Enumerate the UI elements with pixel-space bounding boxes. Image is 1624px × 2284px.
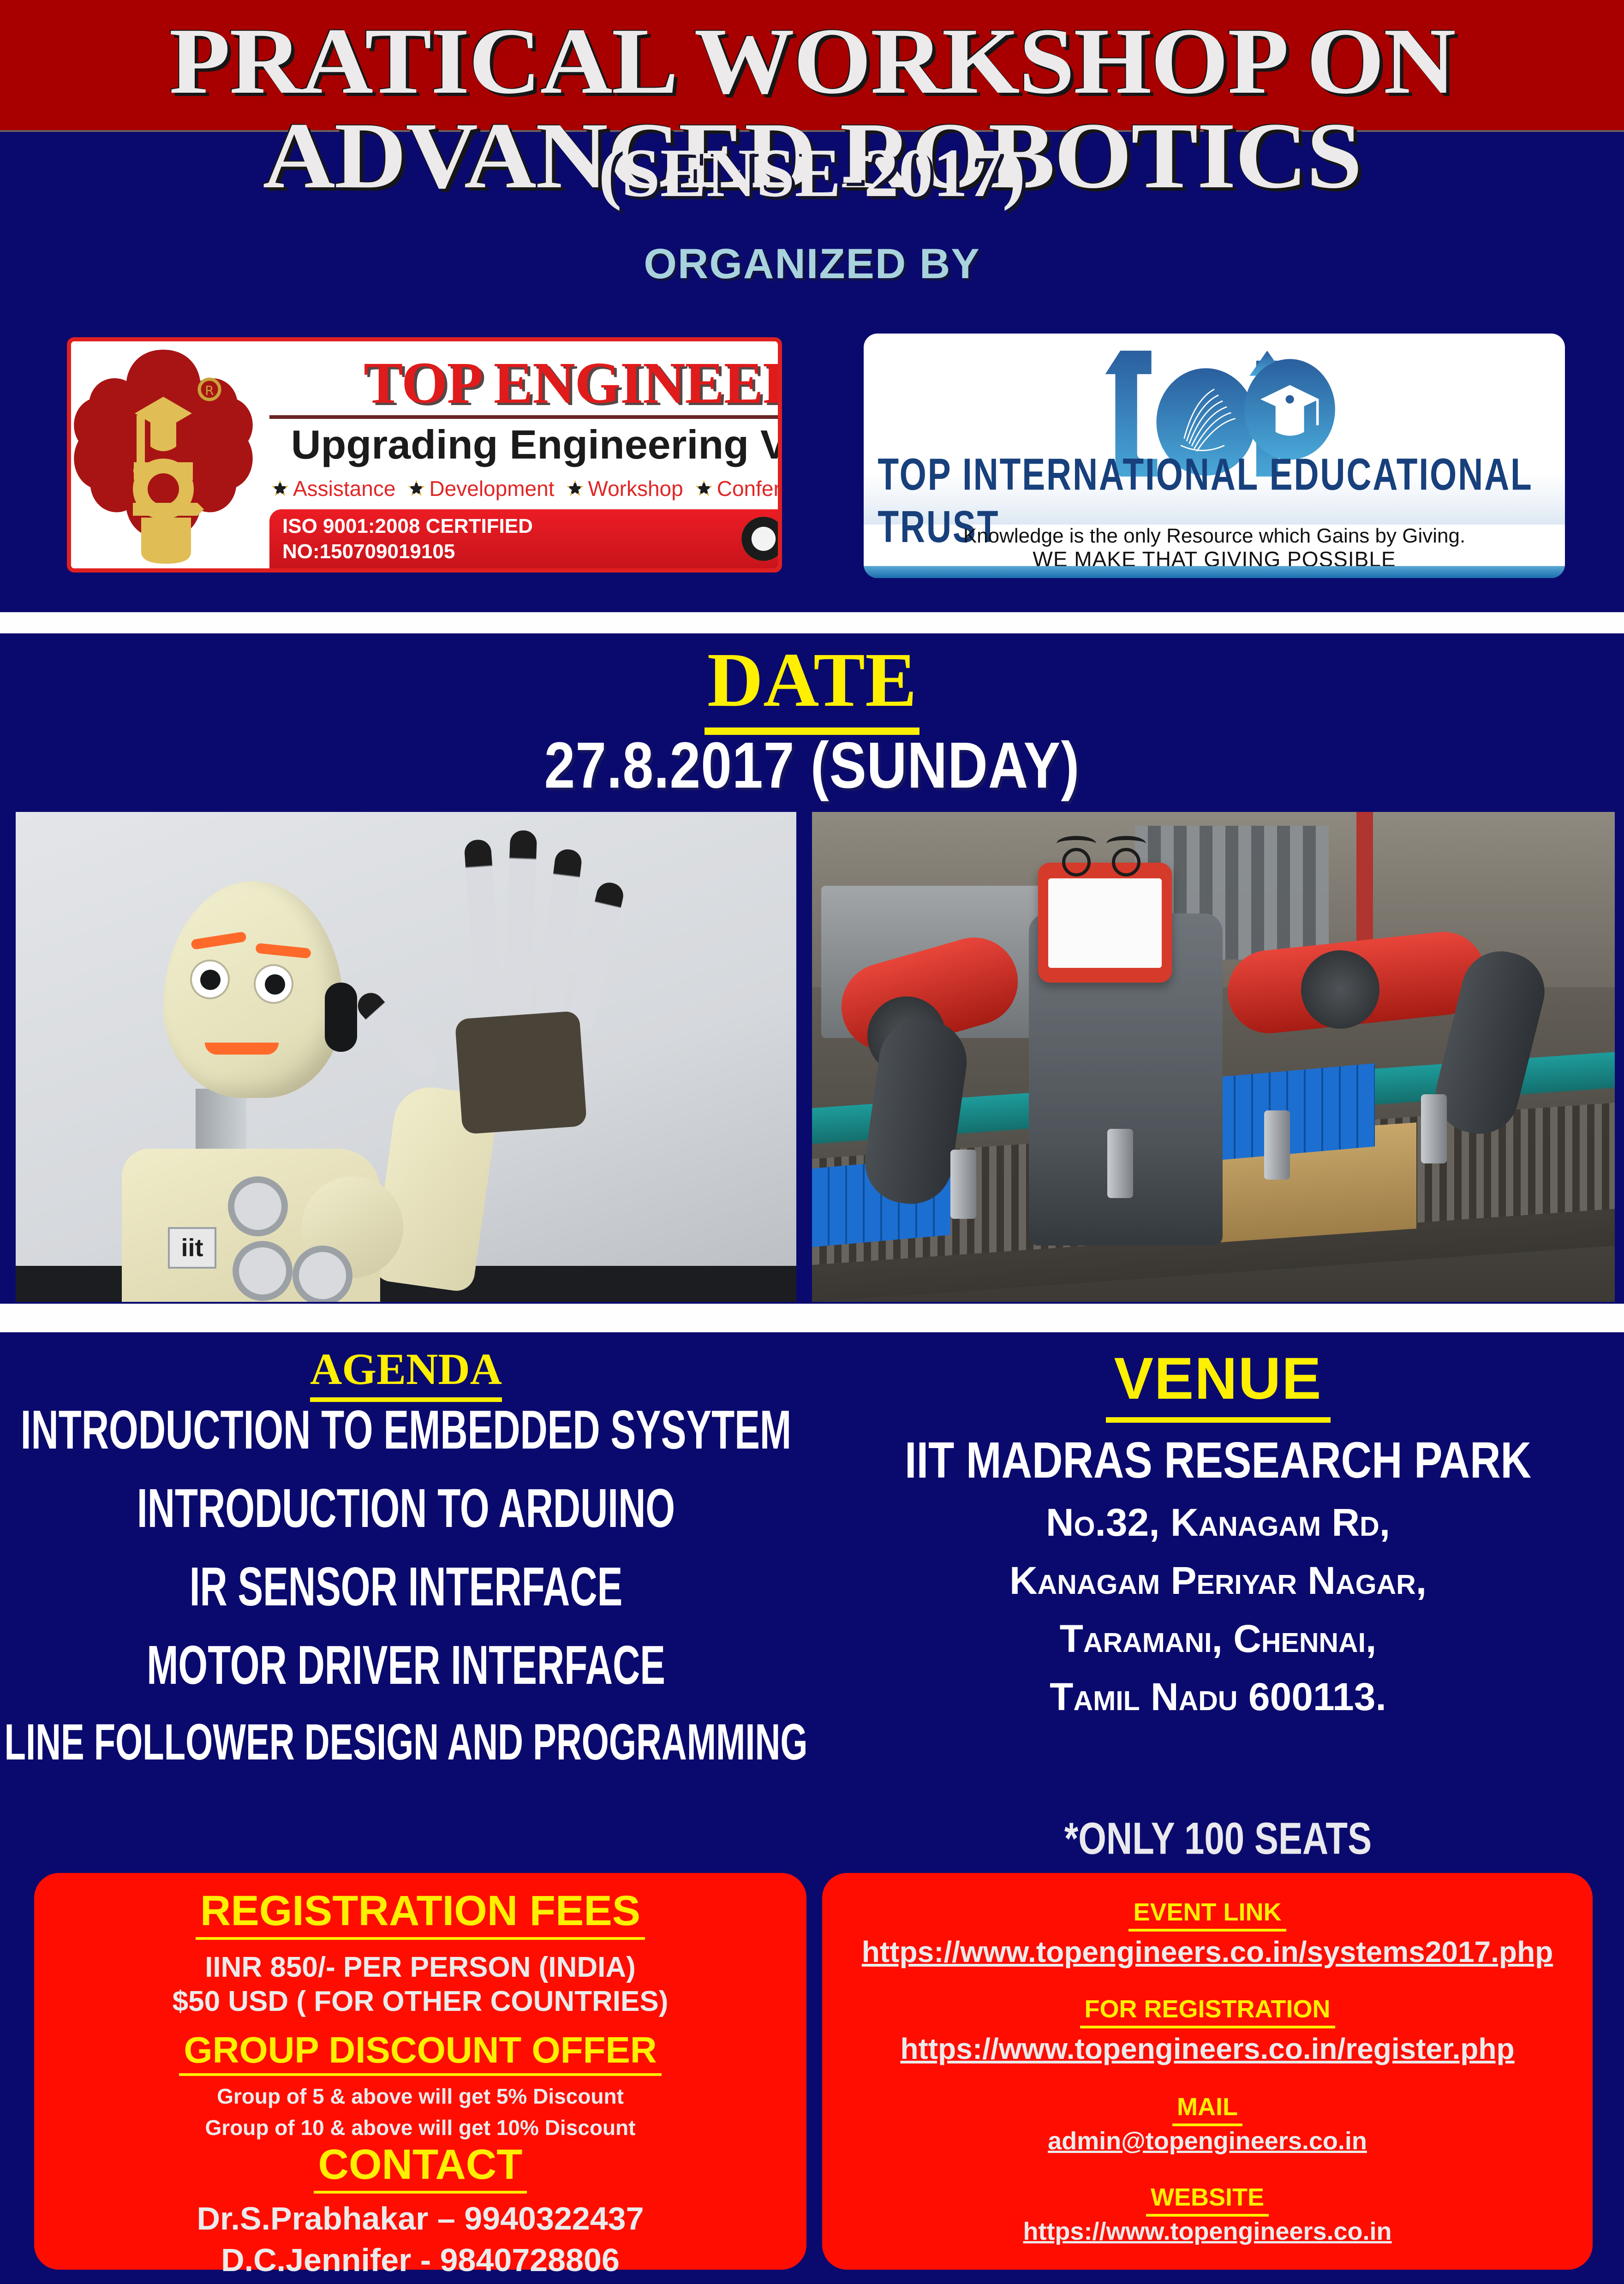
- robot-mouth: [205, 1043, 279, 1055]
- venue-name: IIT MADRAS RESEARCH PARK: [812, 1435, 1624, 1486]
- robot-disc: [228, 1176, 288, 1236]
- divider-band-bottom: [0, 1304, 1624, 1332]
- industrial-robot-photo: [812, 812, 1615, 1302]
- top-trust-logo-card: TOP INTERNATIONAL EDUCATIONAL TRUST Know…: [864, 334, 1565, 578]
- date-value: 27.8.2017 (SUNDAY): [0, 728, 1624, 803]
- svg-text:R: R: [205, 383, 214, 398]
- agenda-list: INTRODUCTION TO EMBEDDED SYSYTEM INTRODU…: [0, 1412, 812, 1801]
- venue-address-line: Tamil Nadu 600113.: [812, 1677, 1624, 1716]
- star-icon: [566, 480, 584, 497]
- group-discount-line-2: Group of 10 & above will get 10% Discoun…: [34, 2117, 806, 2140]
- registration-link-title: FOR REGISTRATION: [822, 1997, 1593, 2022]
- mail-title: MAIL: [822, 2094, 1593, 2119]
- service-item: Assistance: [271, 476, 395, 501]
- robot-pupil: [200, 970, 221, 990]
- contact-person-1: Dr.S.Prabhakar – 9940322437: [34, 2201, 806, 2236]
- top-engineers-emblem-icon: R: [71, 341, 256, 568]
- cobot-screen-surface: [1048, 878, 1162, 968]
- venue-address: IIT MADRAS RESEARCH PARK No.32, Kanagam …: [812, 1439, 1624, 1735]
- event-poster: PRATICAL WORKSHOP ON ADVANCED ROBOTICS (…: [0, 0, 1624, 2284]
- venue-address-line: Taramani, Chennai,: [812, 1619, 1624, 1658]
- venue-address-line: No.32, Kanagam Rd,: [812, 1503, 1624, 1542]
- robot-disc: [233, 1241, 293, 1301]
- registration-link[interactable]: https://www.topengineers.co.in/register.…: [822, 2033, 1593, 2065]
- robot-disc: [293, 1246, 352, 1302]
- top-engineers-tagline: Upgrading Engineering Version: [249, 423, 782, 466]
- cobot-eye: [1062, 848, 1091, 877]
- contact-person-2: D.C.Jennifer - 9840728806: [34, 2243, 806, 2278]
- top-trust-wave-accent: [864, 566, 1565, 578]
- certification-badges: [735, 517, 782, 561]
- agenda-title: AGENDA: [0, 1347, 812, 1391]
- top-engineers-name: TOP ENGINEERS: [256, 353, 782, 412]
- agenda-item: LINE FOLLOWER DESIGN AND PROGRAMMING: [0, 1717, 812, 1768]
- machined-part: [1421, 1094, 1447, 1163]
- agenda-item: IR SENSOR INTERFACE: [0, 1560, 812, 1615]
- top-trust-tagline-1: Knowledge is the only Resource which Gai…: [864, 525, 1565, 548]
- star-icon: [695, 480, 713, 497]
- organized-by-label: ORGANIZED BY: [0, 240, 1624, 288]
- machined-part: [1107, 1129, 1133, 1198]
- group-discount-line-1: Group of 5 & above will get 5% Discount: [34, 2085, 806, 2108]
- iso-certification-bar: ISO 9001:2008 CERTIFIED NO:150709019105: [269, 509, 782, 568]
- contact-title: CONTACT: [34, 2143, 806, 2186]
- website-link[interactable]: https://www.topengineers.co.in: [822, 2218, 1593, 2245]
- event-link[interactable]: https://www.topengineers.co.in/systems20…: [822, 1936, 1593, 1968]
- registration-fees-box: REGISTRATION FEES IINR 850/- PER PERSON …: [34, 1873, 806, 2270]
- humanoid-robot-photo: iit: [16, 812, 796, 1302]
- registration-fees-title: REGISTRATION FEES: [34, 1890, 806, 1932]
- seats-note: *ONLY 100 SEATS: [812, 1813, 1624, 1865]
- neutral-veritas-badge-icon: [741, 517, 782, 561]
- photo-strip: iit: [0, 812, 1624, 1302]
- links-box: EVENT LINK https://www.topengineers.co.i…: [822, 1873, 1593, 2270]
- service-item: Development: [407, 476, 554, 501]
- star-icon: [271, 480, 289, 497]
- fee-india: IINR 850/- PER PERSON (INDIA): [34, 1952, 806, 1983]
- services-row-1: Assistance Development Workshop Conferen…: [271, 476, 782, 501]
- top-engineers-text-block: TOP ENGINEERS Upgrading Engineering Vers…: [256, 341, 782, 568]
- logo-row: R TOP ENGINEERS Upgrading Engineering Ve…: [0, 330, 1624, 588]
- cobot-eye: [1112, 848, 1140, 877]
- robot-pupil: [265, 974, 285, 995]
- group-discount-title: GROUP DISCOUNT OFFER: [34, 2032, 806, 2069]
- iso-certification-text: ISO 9001:2008 CERTIFIED NO:150709019105: [282, 513, 533, 564]
- agenda-item: MOTOR DRIVER INTERFACE: [0, 1639, 812, 1694]
- iit-badge: iit: [168, 1227, 216, 1269]
- fee-other-countries: $50 USD ( FOR OTHER COUNTRIES): [34, 1986, 806, 2017]
- top-engineers-logo-card: R TOP ENGINEERS Upgrading Engineering Ve…: [67, 337, 782, 572]
- website-title: WEBSITE: [822, 2185, 1593, 2210]
- header-band: PRATICAL WORKSHOP ON ADVANCED ROBOTICS: [0, 0, 1624, 132]
- parts-tray: [1218, 1063, 1375, 1160]
- divider-band-top: [0, 612, 1624, 633]
- machined-part: [1264, 1110, 1290, 1180]
- event-link-title: EVENT LINK: [822, 1900, 1593, 1925]
- robot-palm: [455, 1011, 587, 1134]
- top-trust-name-bar: TOP INTERNATIONAL EDUCATIONAL TRUST: [864, 477, 1565, 525]
- star-icon: [407, 480, 425, 497]
- robot-ear: [325, 983, 357, 1052]
- venue-title: VENUE: [812, 1349, 1624, 1408]
- agenda-item: INTRODUCTION TO ARDUINO: [0, 1482, 812, 1537]
- machined-part: [950, 1150, 976, 1219]
- service-item: Conference: [695, 476, 782, 501]
- cobot-joint: [1301, 950, 1379, 1029]
- date-label: DATE: [0, 641, 1624, 719]
- agenda-item: INTRODUCTION TO EMBEDDED SYSYTEM: [0, 1403, 812, 1458]
- top-engineers-rule: [269, 415, 782, 419]
- cobot-face-screen: [1038, 863, 1172, 983]
- service-item: Workshop: [566, 476, 683, 501]
- venue-address-line: Kanagam Periyar Nagar,: [812, 1561, 1624, 1600]
- mail-address[interactable]: admin@topengineers.co.in: [822, 2128, 1593, 2155]
- event-subtitle: (SENSE-2017): [0, 138, 1624, 208]
